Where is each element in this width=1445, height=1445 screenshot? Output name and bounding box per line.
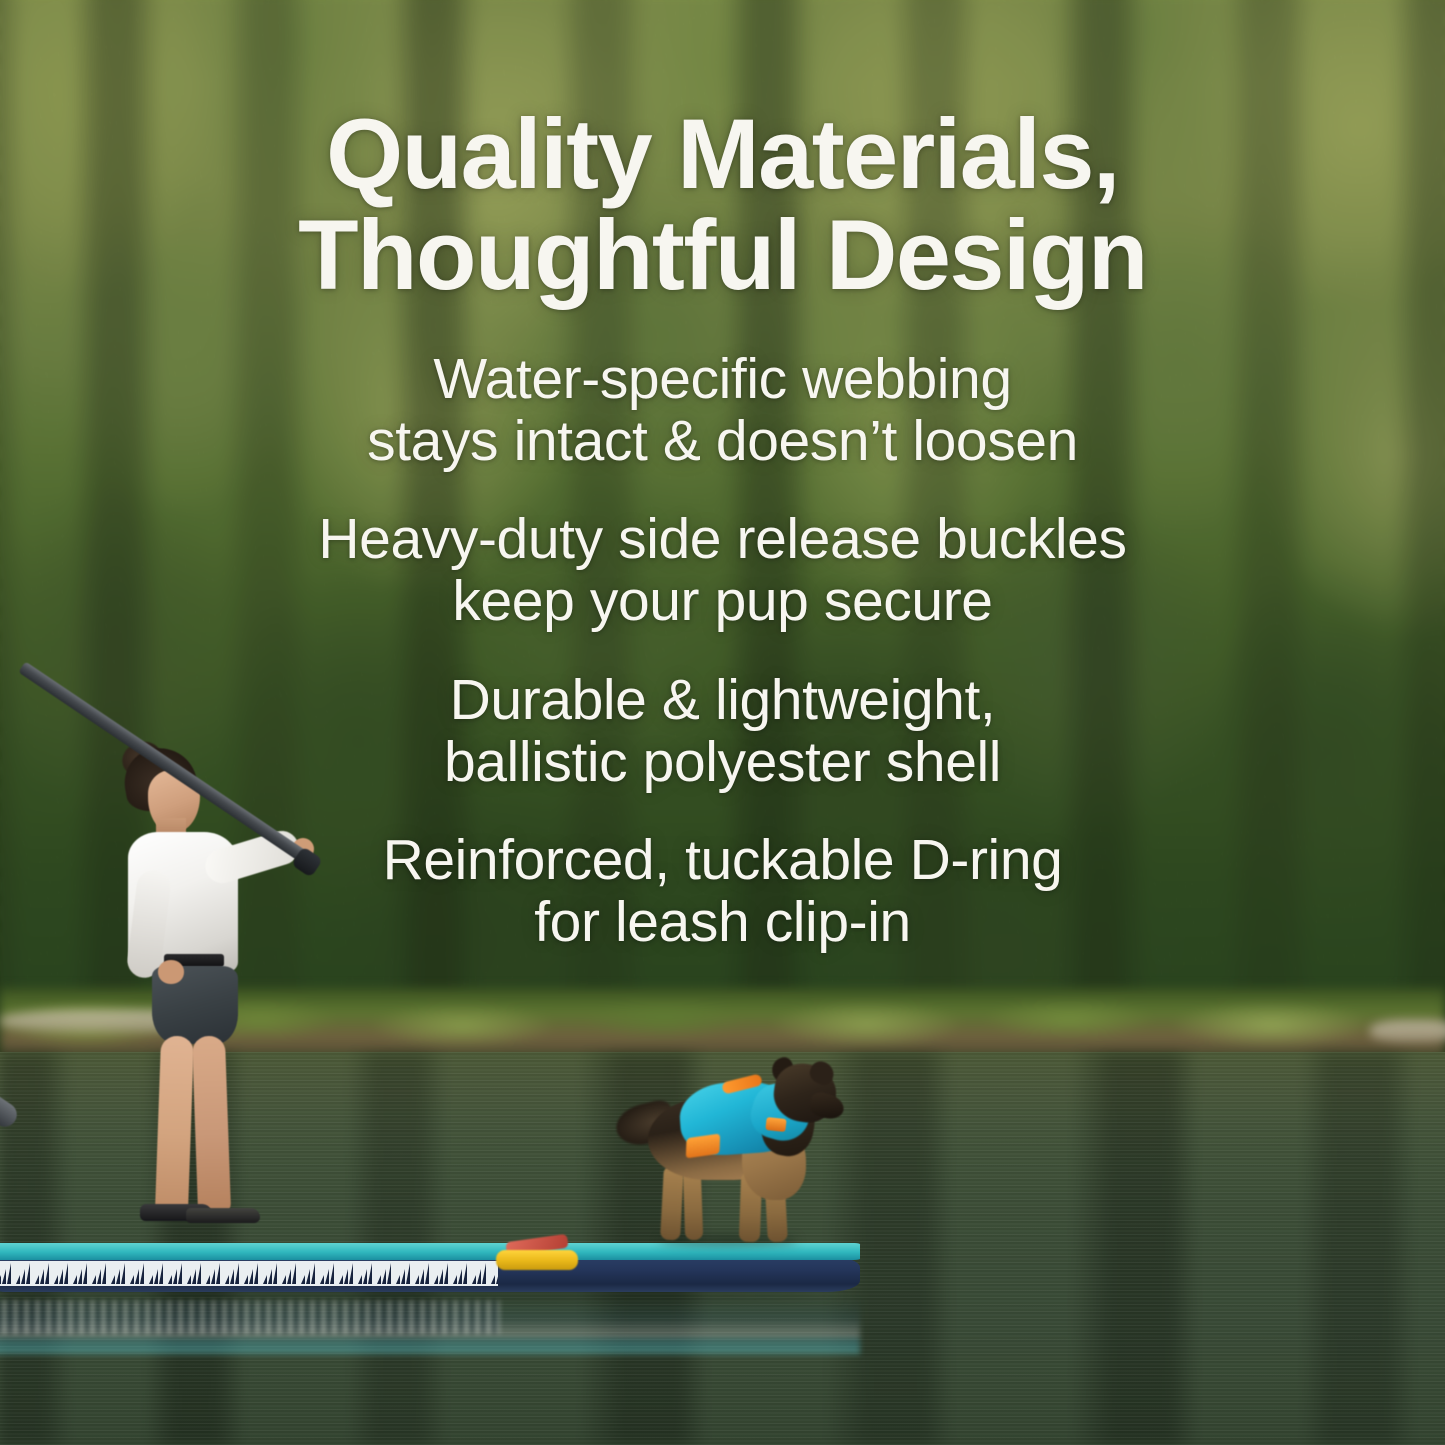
feature-item-shell-line-2: ballistic polyester shell (40, 731, 1405, 793)
promotional-product-banner: Quality Materials, Thoughtful Design Wat… (0, 0, 1445, 1445)
feature-item-webbing: Water-specific webbing stays intact & do… (40, 348, 1405, 472)
feature-item-buckles-line-2: keep your pup secure (40, 570, 1405, 632)
feature-item-webbing-line-2: stays intact & doesn’t loosen (40, 410, 1405, 472)
feature-item-webbing-line-1: Water-specific webbing (40, 348, 1405, 410)
marketing-copy-overlay: Quality Materials, Thoughtful Design Wat… (0, 0, 1445, 1445)
feature-item-dring-line-1: Reinforced, tuckable D-ring (40, 829, 1405, 891)
feature-item-dring: Reinforced, tuckable D-ring for leash cl… (40, 829, 1405, 953)
headline: Quality Materials, Thoughtful Design (0, 104, 1445, 306)
headline-line-1: Quality Materials, (70, 104, 1375, 205)
feature-list: Water-specific webbing stays intact & do… (0, 348, 1445, 989)
feature-item-buckles: Heavy-duty side release buckles keep you… (40, 508, 1405, 632)
feature-item-shell-line-1: Durable & lightweight, (40, 669, 1405, 731)
feature-item-buckles-line-1: Heavy-duty side release buckles (40, 508, 1405, 570)
feature-item-shell: Durable & lightweight, ballistic polyest… (40, 669, 1405, 793)
feature-item-dring-line-2: for leash clip-in (40, 891, 1405, 953)
headline-line-2: Thoughtful Design (70, 205, 1375, 306)
